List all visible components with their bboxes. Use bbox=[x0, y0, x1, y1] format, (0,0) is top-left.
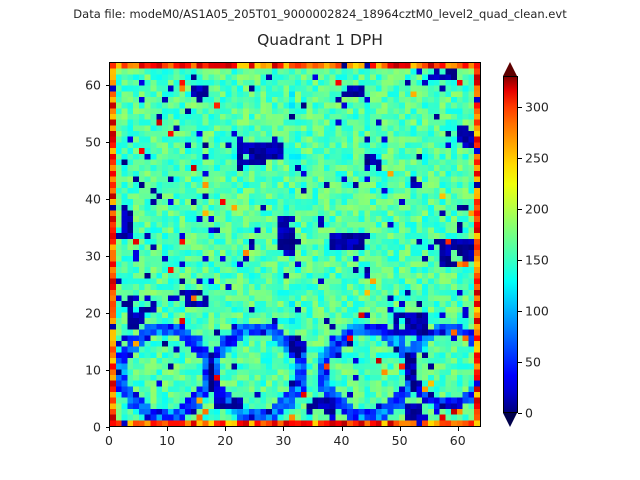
colorbar-tick-label: 100 bbox=[525, 303, 549, 318]
colorbar-tick-label: 150 bbox=[525, 252, 549, 267]
colorbar-tick-mark bbox=[518, 209, 522, 210]
colorbar-tick-mark bbox=[518, 413, 522, 414]
colorbar-tick-mark bbox=[518, 362, 522, 363]
y-tick-mark bbox=[106, 85, 110, 86]
y-tick-mark bbox=[106, 427, 110, 428]
colorbar-tick-label: 300 bbox=[525, 99, 549, 114]
colorbar-tick-mark bbox=[518, 260, 522, 261]
y-tick-mark bbox=[106, 256, 110, 257]
colorbar-tick-label: 50 bbox=[525, 354, 541, 369]
colorbar-ticks: 050100150200250300 bbox=[0, 0, 640, 480]
y-tick-mark bbox=[106, 199, 110, 200]
y-tick-mark bbox=[106, 370, 110, 371]
y-tick-mark bbox=[106, 142, 110, 143]
colorbar-tick-mark bbox=[518, 107, 522, 108]
colorbar-tick-label: 250 bbox=[525, 150, 549, 165]
matplotlib-figure: Data file: modeM0/AS1A05_205T01_90000028… bbox=[0, 0, 640, 480]
colorbar-tick-label: 0 bbox=[525, 406, 533, 421]
colorbar-tick-mark bbox=[518, 158, 522, 159]
colorbar-tick-mark bbox=[518, 311, 522, 312]
y-tick-mark bbox=[106, 313, 110, 314]
colorbar-tick-label: 200 bbox=[525, 201, 549, 216]
